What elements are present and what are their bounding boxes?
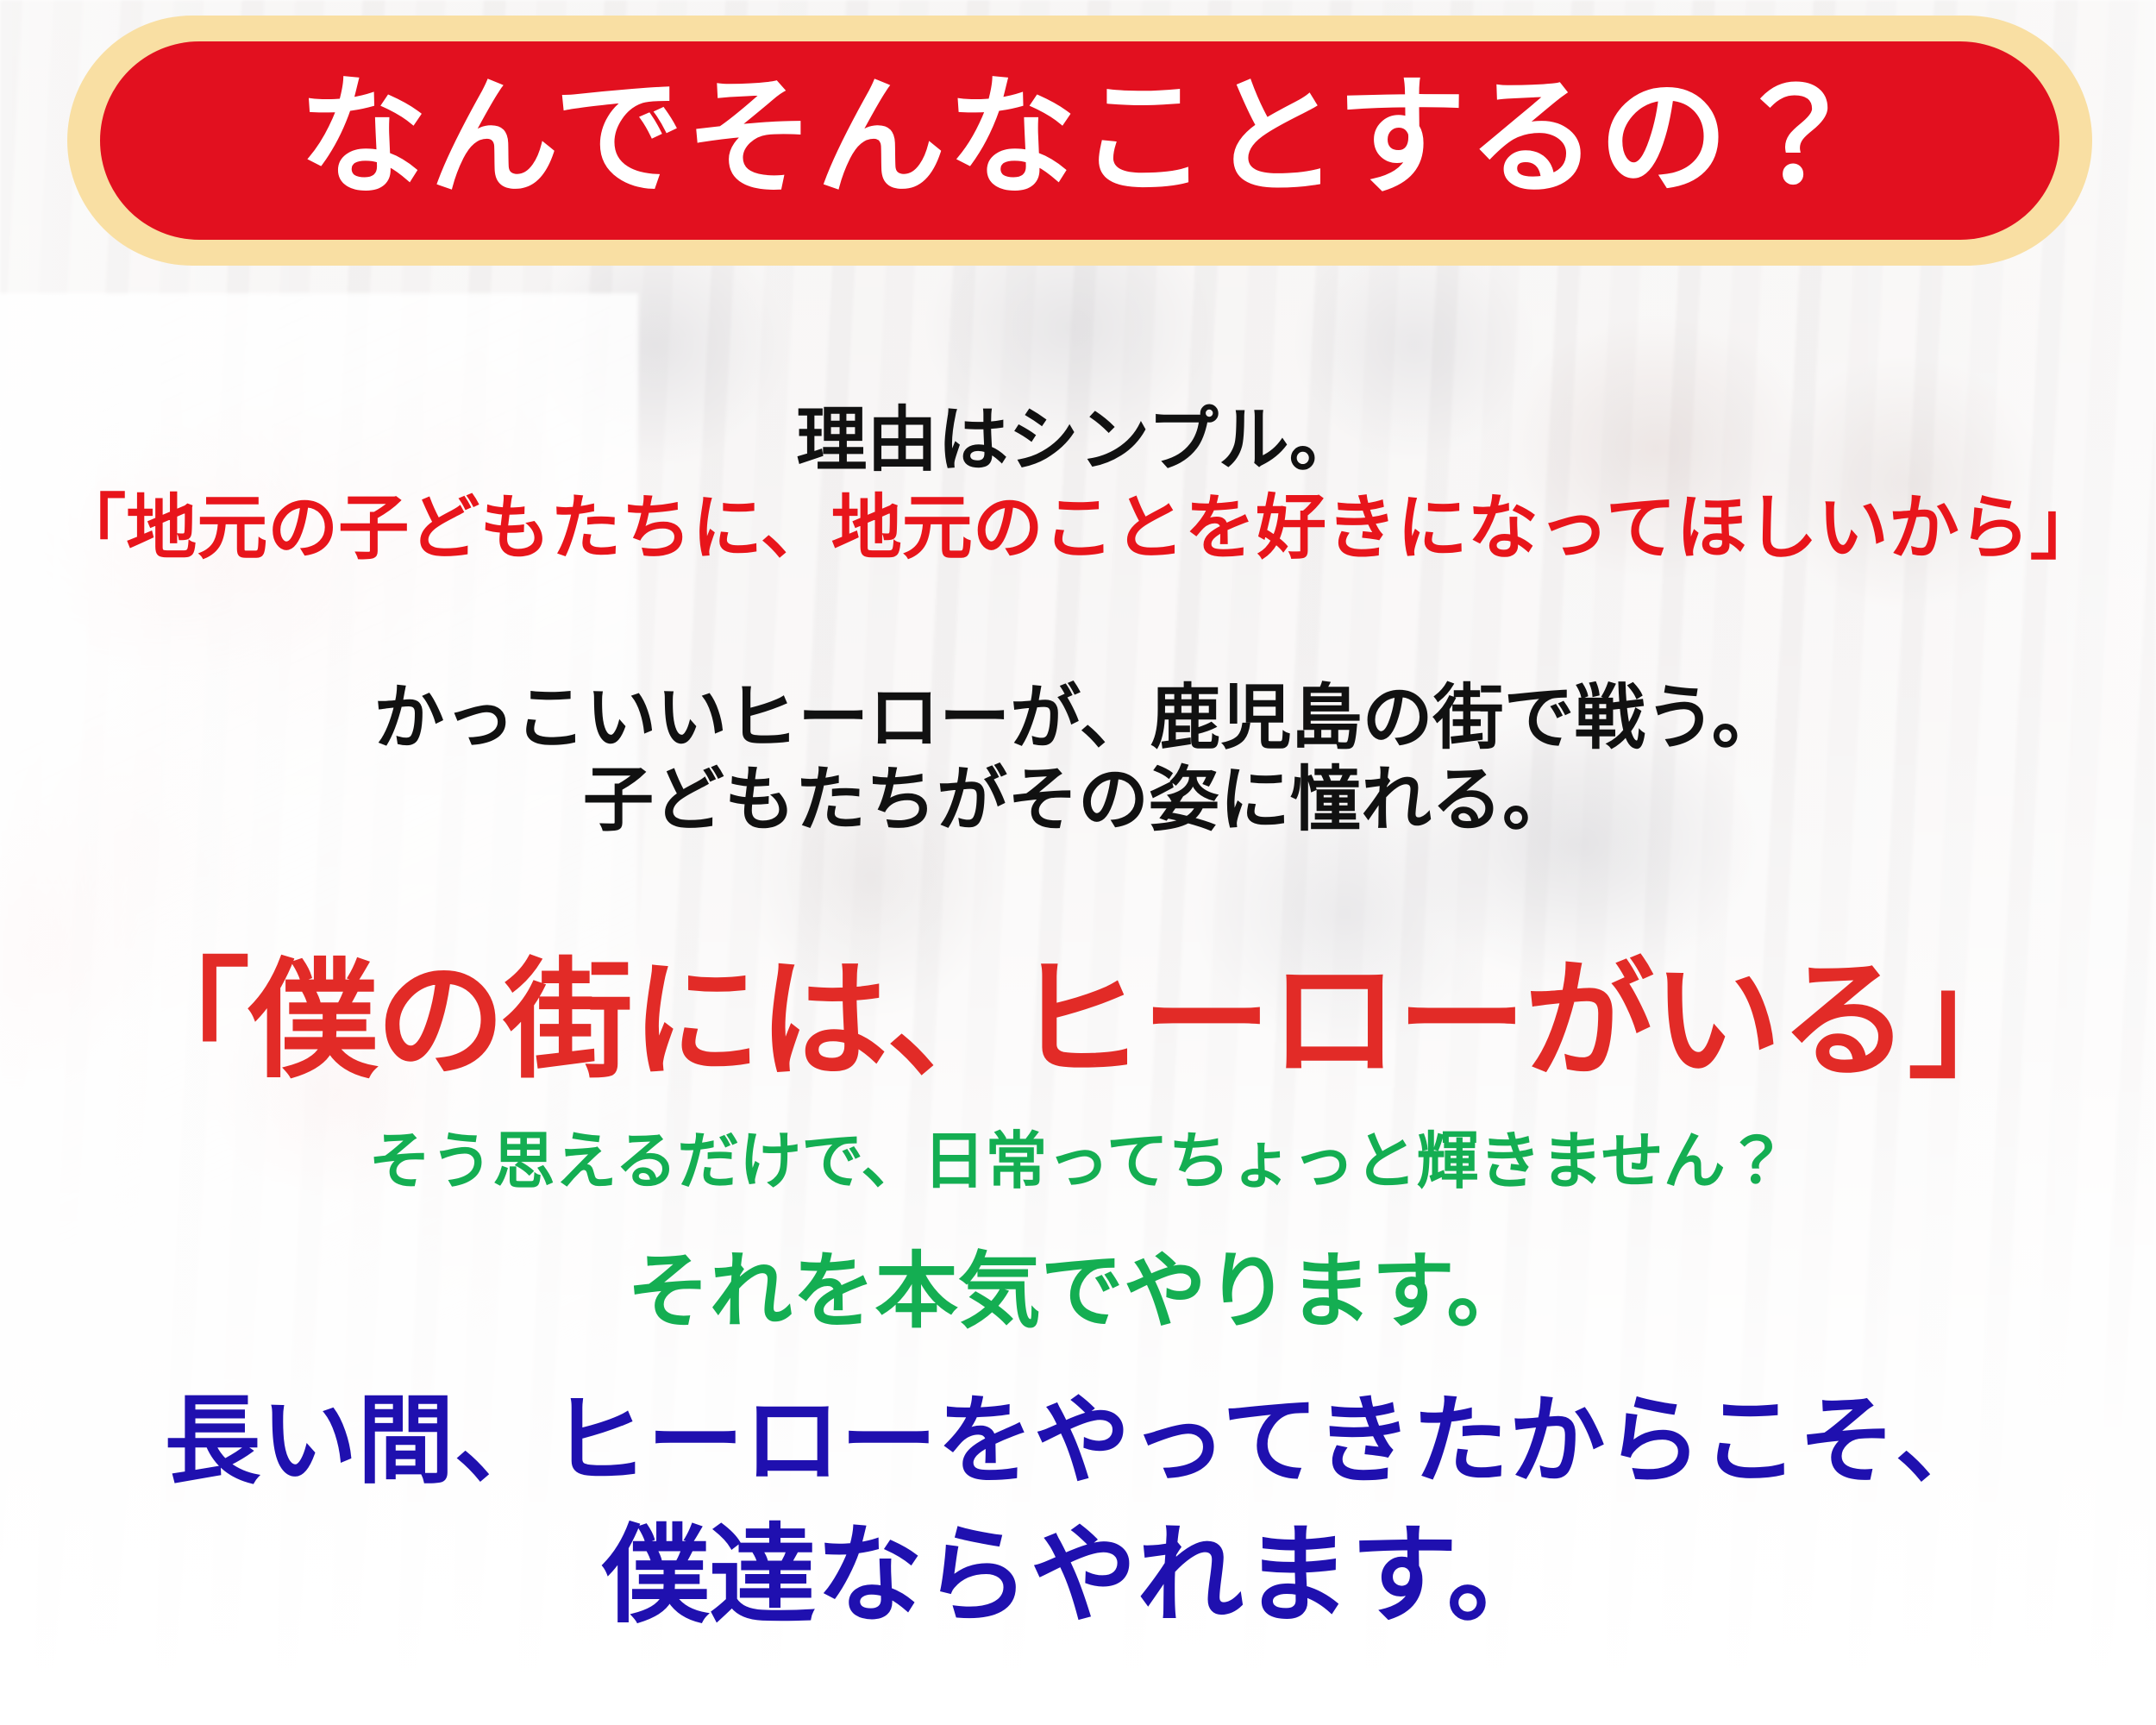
main-headline: 「僕の街には、ヒーローがいる」	[0, 953, 2156, 1089]
slide-canvas: なんでそんなことするの？ 理由はシンプル。 「地元の子どもたちに、地元のことを好…	[0, 0, 2156, 1725]
hero-narrative-line-2: 子どもたちがその姿に憧れる。	[0, 763, 2156, 837]
hero-narrative-line-1: かっこいいヒーローが、鹿児島の街で戦う。	[0, 681, 2156, 756]
body-copy: 理由はシンプル。 「地元の子どもたちに、地元のことを好きになってほしいから」 か…	[0, 0, 2156, 1725]
closing-line-1: 長い間、ヒーローをやってきたからこそ、	[0, 1390, 2156, 1492]
green-statement-text: それを本気でやります。	[0, 1249, 2156, 1336]
reason-intro-text: 理由はシンプル。	[0, 404, 2156, 478]
closing-line-2: 僕達ならやれます。	[0, 1520, 2156, 1632]
green-question-text: そう思えるだけで、日常ってちょっと輝きません？	[0, 1130, 2156, 1195]
reason-quote-text: 「地元の子どもたちに、地元のことを好きになってほしいから」	[0, 492, 2156, 566]
